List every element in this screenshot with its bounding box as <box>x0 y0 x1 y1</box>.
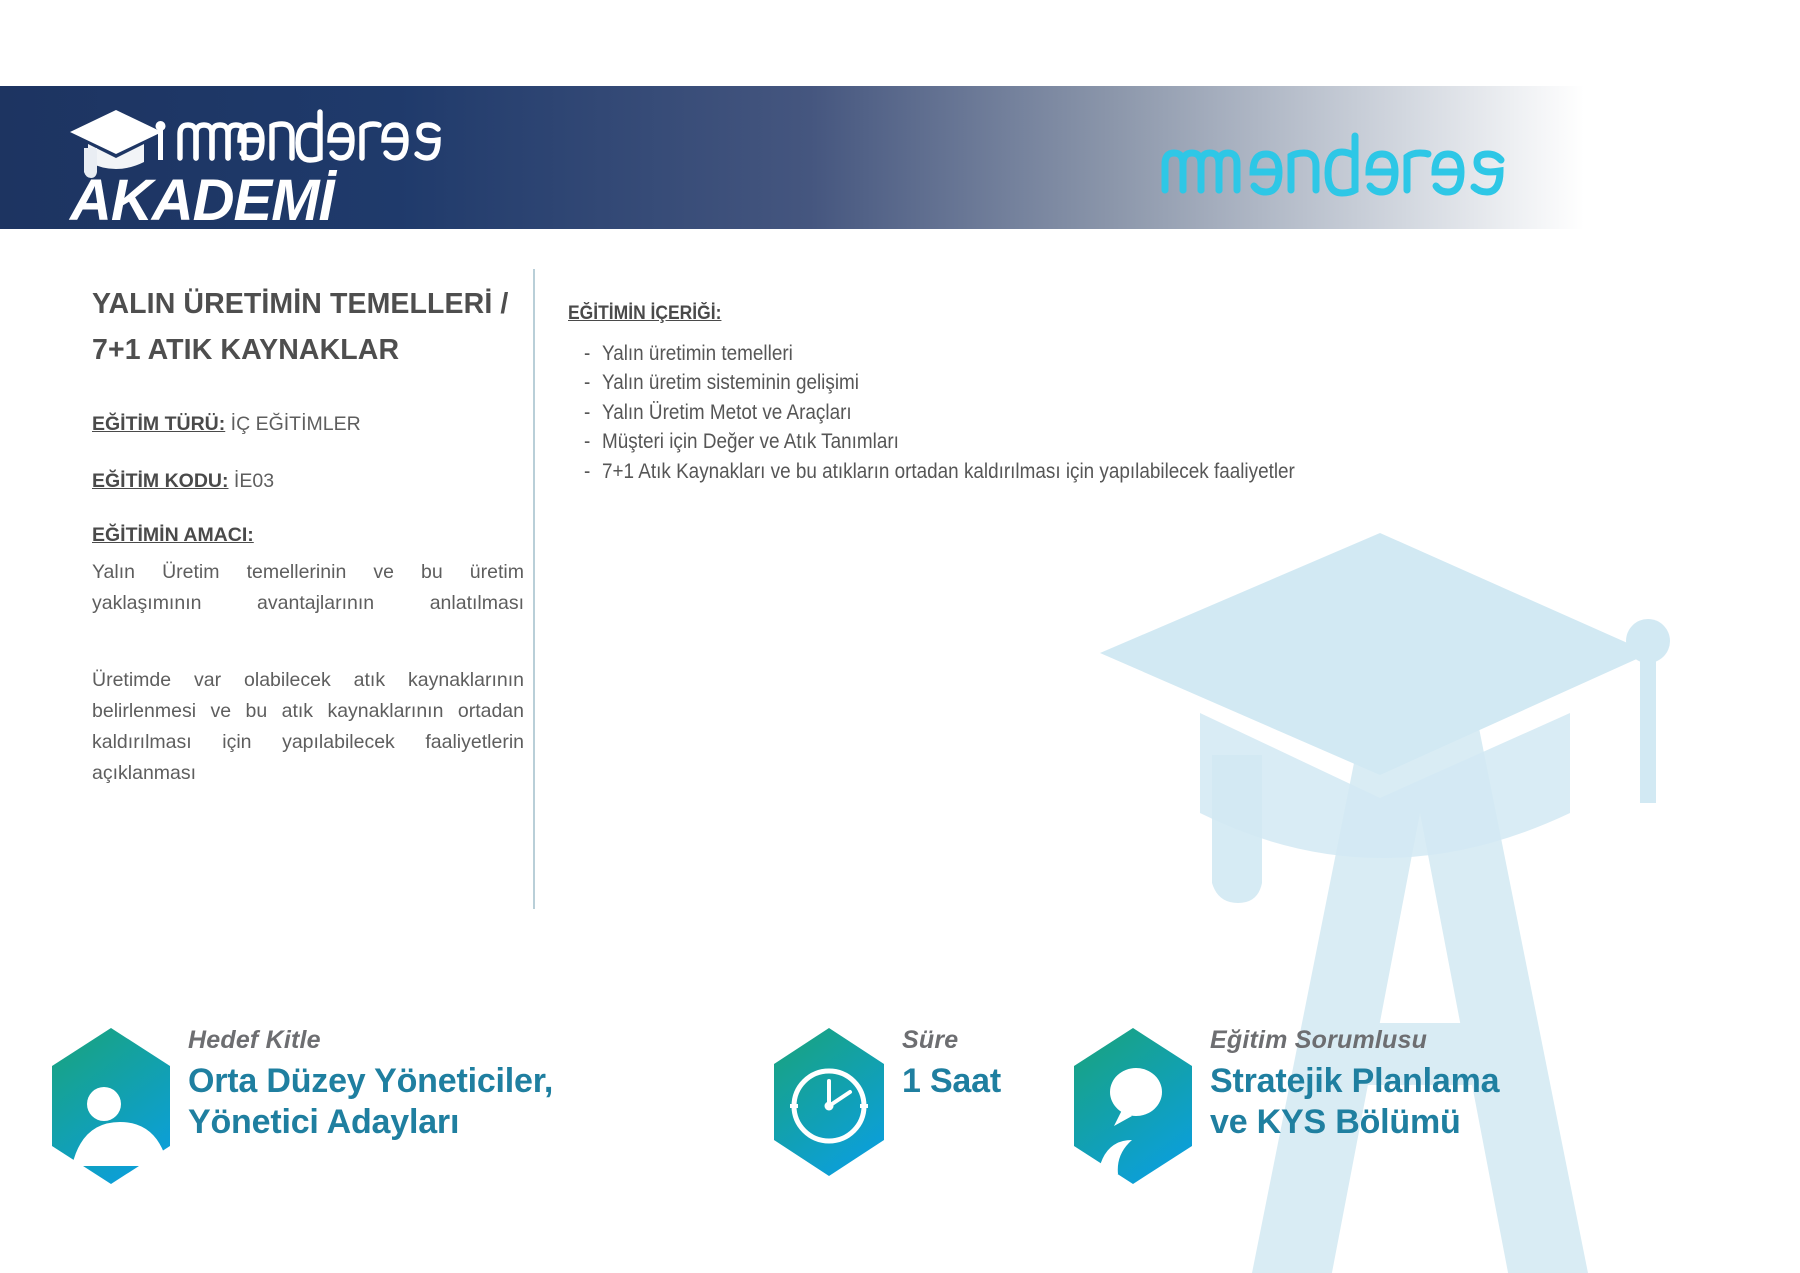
badge-caption: Süre <box>902 1026 1001 1055</box>
list-item-text: Müşteri için Değer ve Atık Tanımları <box>602 430 899 453</box>
course-code-label: EĞİTİM KODU: <box>92 470 229 492</box>
course-purpose-paragraph-2: Üretimde var olabilecek atık kaynakların… <box>92 665 524 788</box>
badge-caption: Eğitim Sorumlusu <box>1210 1026 1499 1055</box>
left-column: YALIN ÜRETİMİN TEMELLERİ / 7+1 ATIK KAYN… <box>92 281 524 805</box>
list-item: -Müşteri için Değer ve Atık Tanımları <box>584 427 1614 456</box>
list-item-text: Yalın üretim sisteminin gelişimi <box>602 371 859 394</box>
course-type-row: EĞİTİM TÜRÜ: İÇ EĞİTİMLER <box>92 411 524 437</box>
right-column: EĞİTİMİN İÇERİĞİ: -Yalın üretimin temell… <box>568 303 1728 486</box>
bullet-dash: - <box>584 368 602 397</box>
people-icon <box>48 1026 174 1186</box>
course-type-label: EĞİTİM TÜRÜ: <box>92 413 225 435</box>
list-item-text: Yalın Üretim Metot ve Araçları <box>602 401 852 424</box>
badge-value-line2: ve KYS Bölümü <box>1210 1102 1499 1143</box>
badge-value: 1 Saat <box>902 1061 1001 1102</box>
list-item: -Yalın üretim sisteminin gelişimi <box>584 368 1614 397</box>
course-purpose-label: EĞİTİMİN AMACI: <box>92 524 524 547</box>
course-infosheet-page: AKADEMİ YALIN ÜRETİMİN TEMELLERİ / 7+1 A… <box>0 0 1800 1273</box>
course-type-value: İÇ EĞİTİMLER <box>231 413 361 435</box>
badge-row: Hedef Kitle Orta Düzey Yöneticiler, Yöne… <box>0 1008 1800 1273</box>
menderes-akademi-logo: AKADEMİ <box>62 96 492 226</box>
list-item: -Yalın Üretim Metot ve Araçları <box>584 398 1614 427</box>
badge-caption: Hedef Kitle <box>188 1026 553 1055</box>
list-item: -Yalın üretimin temelleri <box>584 339 1614 368</box>
menderes-brand-wordmark <box>1155 128 1515 198</box>
badge-value: Stratejik Planlama ve KYS Bölümü <box>1210 1061 1499 1144</box>
speech-bubble-icon <box>1070 1026 1196 1186</box>
course-code-row: EĞİTİM KODU: İE03 <box>92 468 524 494</box>
list-item-text: 7+1 Atık Kaynakları ve bu atıkların orta… <box>602 460 1295 483</box>
badge-value-line1: Orta Düzey Yöneticiler, <box>188 1061 553 1102</box>
course-content-list: -Yalın üretimin temelleri -Yalın üretim … <box>568 339 1728 486</box>
clock-icon <box>770 1026 888 1178</box>
column-divider <box>533 269 535 909</box>
course-purpose-paragraph-1: Yalın Üretim temellerinin ve bu üretim y… <box>92 557 524 649</box>
course-content-label: EĞİTİMİN İÇERİĞİ: <box>568 303 721 325</box>
badge-value-line1: 1 Saat <box>902 1061 1001 1102</box>
badge-value-line1: Stratejik Planlama <box>1210 1061 1499 1102</box>
bullet-dash: - <box>584 457 602 486</box>
list-item-text: Yalın üretimin temelleri <box>602 342 793 365</box>
badge-target-audience: Hedef Kitle Orta Düzey Yöneticiler, Yöne… <box>48 1026 553 1186</box>
page-title: YALIN ÜRETİMİN TEMELLERİ / 7+1 ATIK KAYN… <box>92 281 524 373</box>
badge-duration: Süre 1 Saat <box>770 1026 1001 1178</box>
list-item: -7+1 Atık Kaynakları ve bu atıkların ort… <box>584 457 1614 486</box>
badge-value-line2: Yönetici Adayları <box>188 1102 553 1143</box>
badge-value: Orta Düzey Yöneticiler, Yönetici Adaylar… <box>188 1061 553 1144</box>
bullet-dash: - <box>584 339 602 368</box>
course-code-value: İE03 <box>234 470 274 492</box>
bullet-dash: - <box>584 427 602 456</box>
bullet-dash: - <box>584 398 602 427</box>
badge-training-owner: Eğitim Sorumlusu Stratejik Planlama ve K… <box>1070 1026 1499 1186</box>
